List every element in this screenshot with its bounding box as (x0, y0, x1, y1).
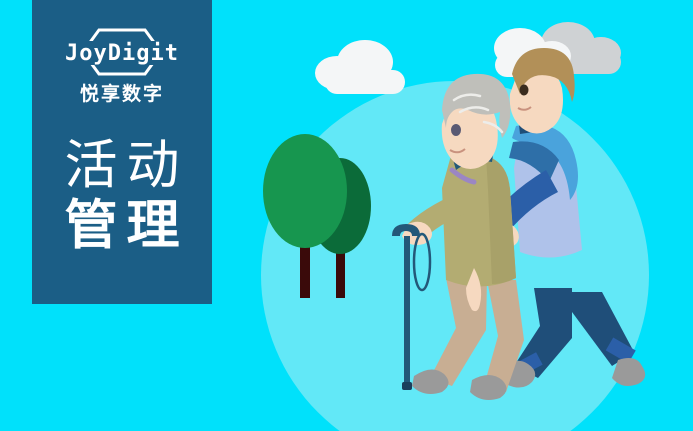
page-title: 活动 管理 (42, 136, 202, 256)
cane-tip (402, 382, 412, 390)
brand-name-cn: 悦享数字 (47, 82, 197, 106)
man-eye (520, 85, 529, 96)
poster-canvas: JoyDigit 悦享数字 活动 管理 (0, 0, 693, 431)
page-title-line1: 活动 (42, 136, 202, 196)
woman-eye (451, 124, 461, 136)
logo-wordmark: JoyDigit (65, 41, 179, 66)
joydigit-logo-mark: JoyDigit (47, 26, 197, 80)
info-panel: JoyDigit 悦享数字 活动 管理 (32, 0, 212, 304)
cane-shaft (404, 236, 410, 386)
brand-logo: JoyDigit 悦享数字 (47, 26, 197, 112)
page-title-line2: 管理 (42, 196, 202, 256)
